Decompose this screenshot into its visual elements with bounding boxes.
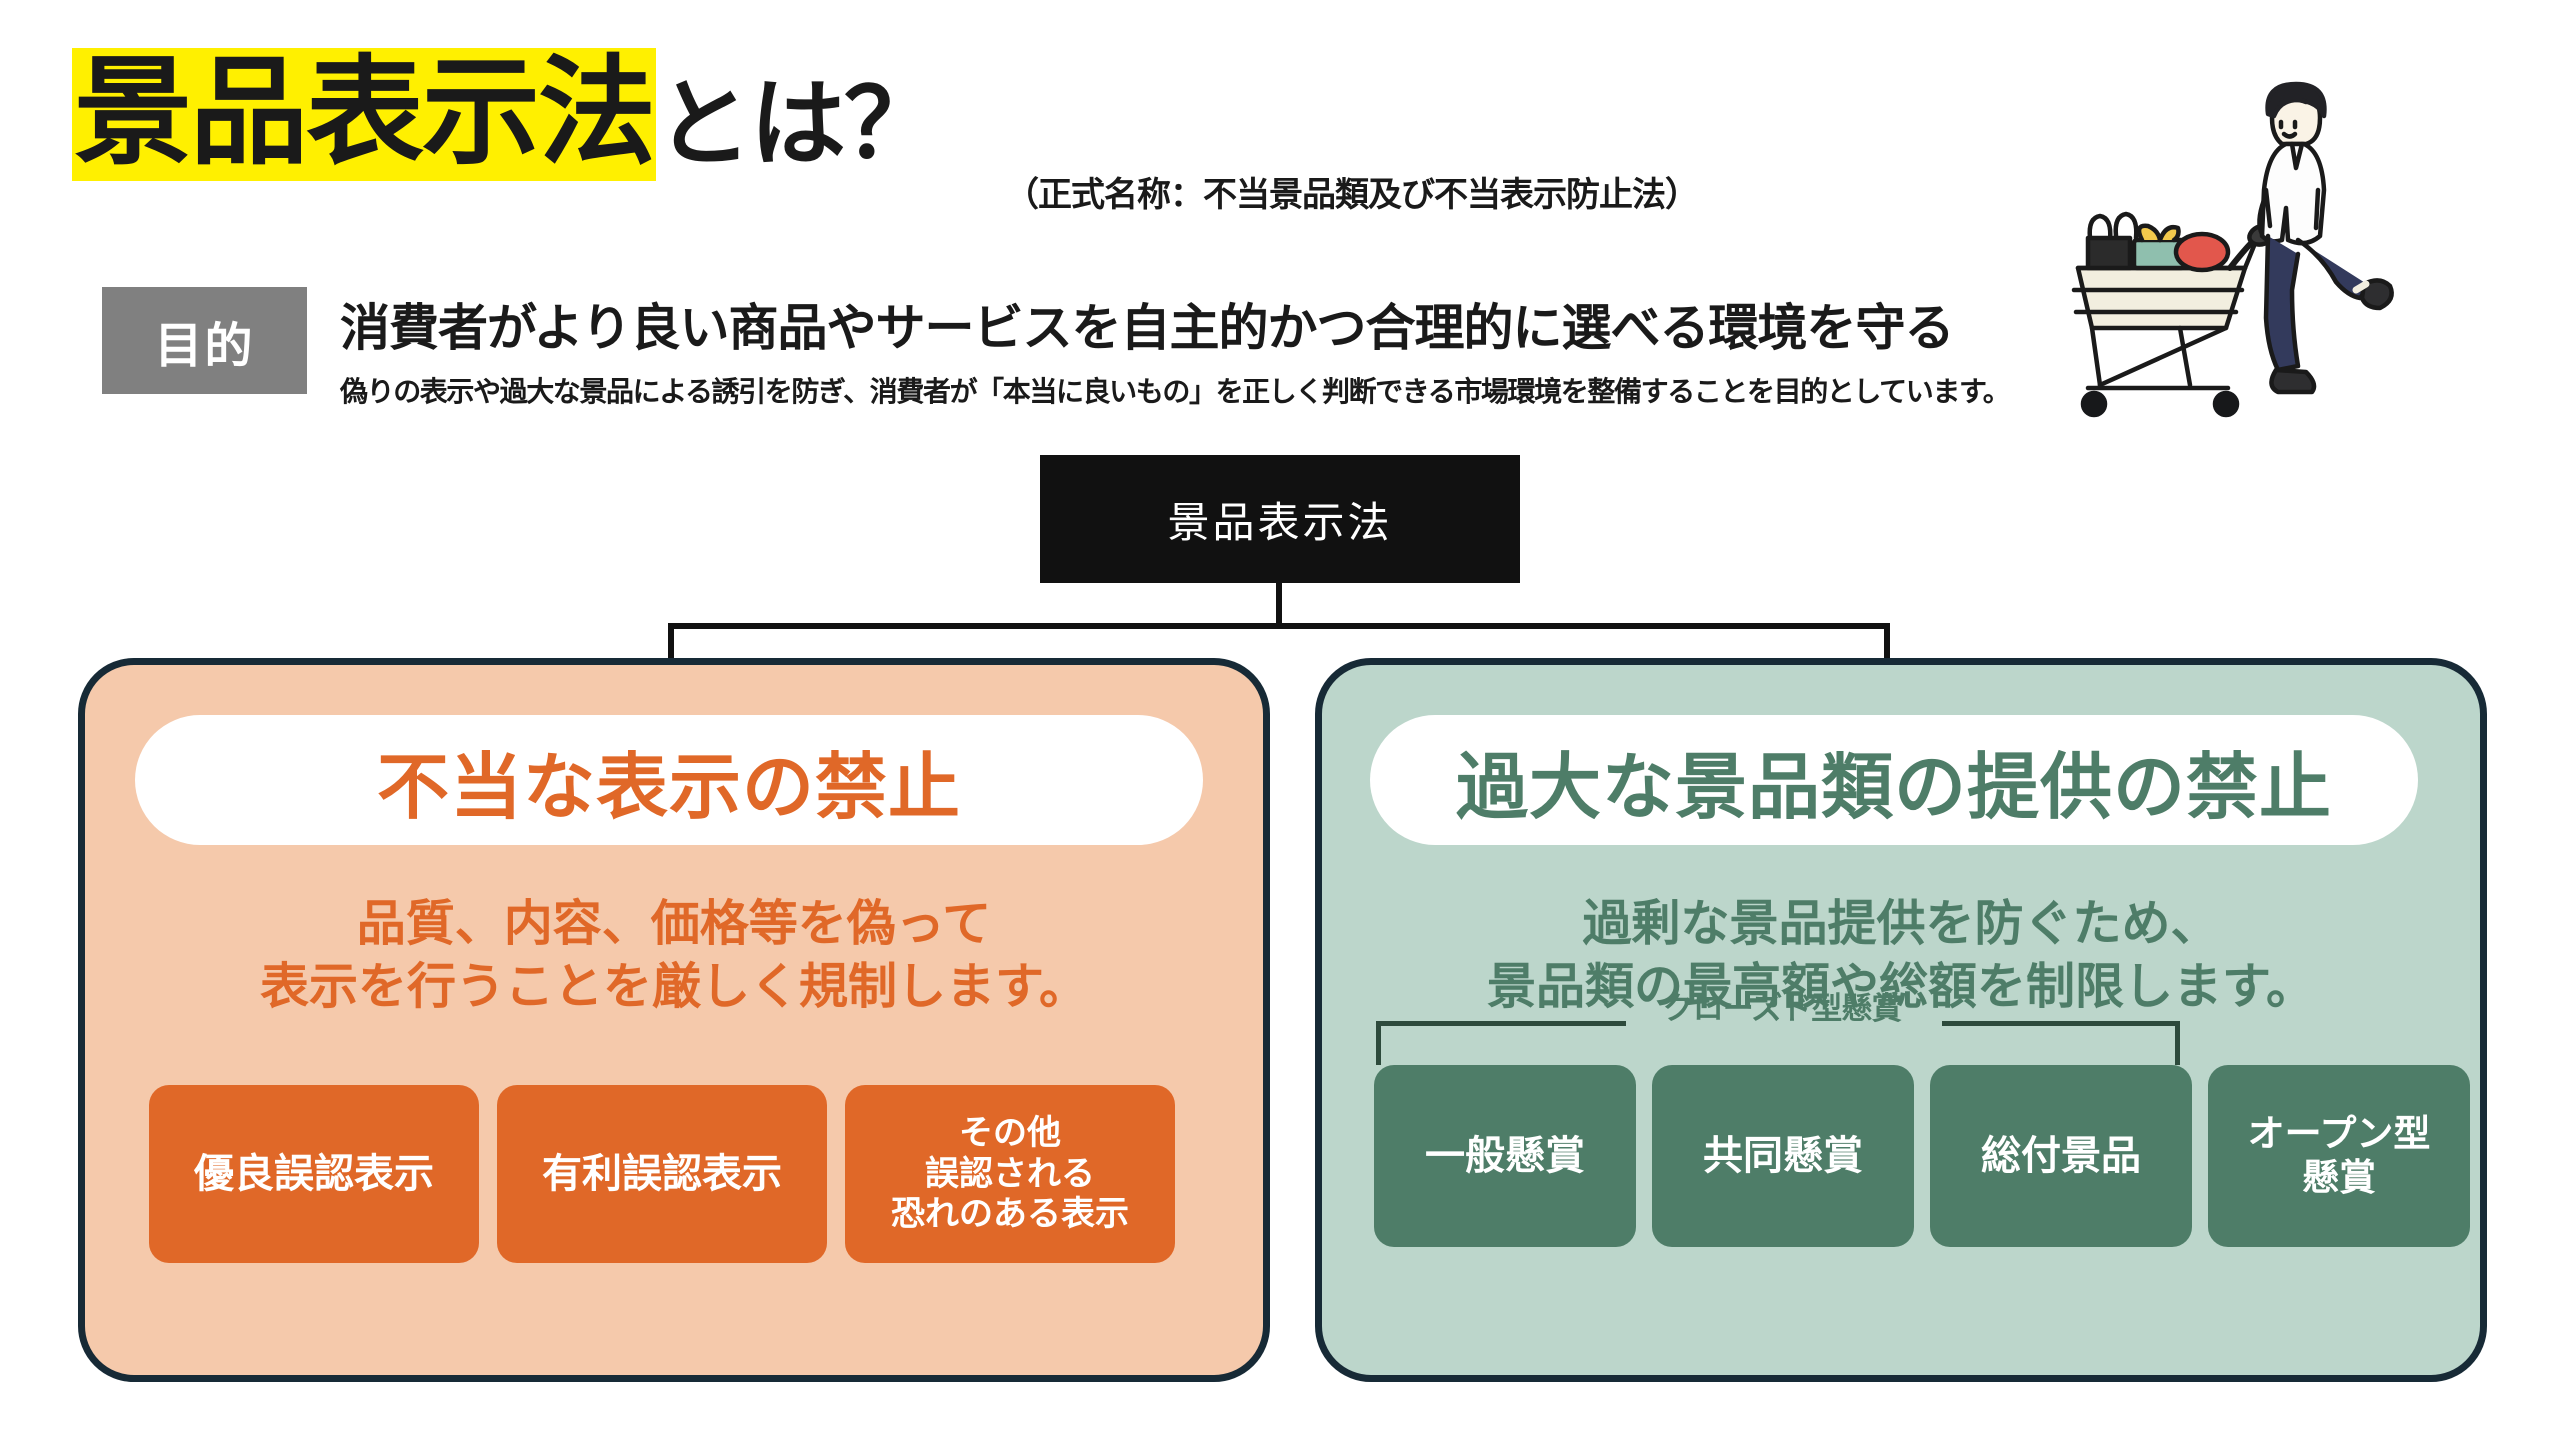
- subbox-yuryo-gonin-label: 優良誤認表示: [194, 1150, 434, 1198]
- subbox-yuryo-gonin[interactable]: 優良誤認表示: [149, 1085, 479, 1263]
- subbox-ippan-kensho-label: 一般懸賞: [1425, 1132, 1585, 1180]
- subbox-soutsuke-keihin-label: 総付景品: [1981, 1132, 2141, 1180]
- subbox-open-kensho-label: オープン型 懸賞: [2248, 1112, 2431, 1201]
- branch-heading-premium: 過大な景品類の提供の禁止: [1370, 715, 2418, 845]
- formal-name-text: （正式名称：不当景品類及び不当表示防止法）: [1005, 167, 1698, 216]
- purpose-badge-label: 目的: [154, 306, 254, 376]
- purpose-detail-text: 偽りの表示や過大な景品による誘引を防ぎ、消費者が「本当に良いもの」を正しく判断で…: [340, 370, 2009, 410]
- subbox-soutsuke-keihin[interactable]: 総付景品: [1930, 1065, 2192, 1247]
- branch-heading-display-label: 不当な表示の禁止: [377, 728, 961, 833]
- branch-heading-display: 不当な表示の禁止: [135, 715, 1203, 845]
- purpose-badge: 目的: [102, 287, 307, 394]
- title-highlight-text: 景品表示法: [72, 48, 656, 181]
- page-title: 景品表示法 とは？: [72, 48, 938, 181]
- branch-heading-premium-label: 過大な景品類の提供の禁止: [1456, 728, 2332, 833]
- subbox-sonota-gonin-label: その他 誤認される 恐れのある表示: [891, 1113, 1129, 1235]
- subbox-sonota-gonin[interactable]: その他 誤認される 恐れのある表示: [845, 1085, 1175, 1263]
- connector-stem: [1276, 583, 1282, 627]
- connector-horizontal-bar: [668, 623, 1890, 629]
- subbox-yuri-gonin-label: 有利誤認表示: [542, 1150, 782, 1198]
- subbox-yuri-gonin[interactable]: 有利誤認表示: [497, 1085, 827, 1263]
- branch-panel-display: 不当な表示の禁止 品質、内容、価格等を偽って 表示を行うことを厳しく規制します。…: [78, 658, 1270, 1382]
- bracket-segment-right: [1942, 1021, 2180, 1026]
- subbox-kyodo-kensho-label: 共同懸賞: [1703, 1132, 1863, 1180]
- subbox-row-premium: 一般懸賞 共同懸賞 総付景品 オープン型 懸賞: [1374, 1065, 2470, 1247]
- diagram-root-node: 景品表示法: [1040, 455, 1520, 583]
- subbox-kyodo-kensho[interactable]: 共同懸賞: [1652, 1065, 1914, 1247]
- bracket-tick-left: [1376, 1021, 1381, 1065]
- subbox-ippan-kensho[interactable]: 一般懸賞: [1374, 1065, 1636, 1247]
- header-area: 景品表示法 とは？ （正式名称：不当景品類及び不当表示防止法） 目的 消費者がよ…: [0, 0, 2560, 460]
- diagram-root-label: 景品表示法: [1167, 489, 1392, 550]
- subbox-open-kensho[interactable]: オープン型 懸賞: [2208, 1065, 2470, 1247]
- bracket-tick-right: [2175, 1021, 2180, 1065]
- subbox-row-display: 優良誤認表示 有利誤認表示 その他 誤認される 恐れのある表示: [149, 1085, 1175, 1263]
- closed-type-bracket-label: クローズド型懸賞: [1622, 983, 1942, 1028]
- closed-type-bracket: クローズド型懸賞: [1374, 983, 2184, 1067]
- branch-panel-premium: 過大な景品類の提供の禁止 過剰な景品提供を防ぐため、 景品類の最高額や総額を制限…: [1315, 658, 2487, 1382]
- branch-description-display: 品質、内容、価格等を偽って 表示を行うことを厳しく規制します。: [85, 893, 1263, 1018]
- bracket-segment-left: [1376, 1021, 1626, 1026]
- shopping-cart-illustration-icon: [2030, 40, 2460, 440]
- title-suffix-text: とは？: [656, 72, 938, 182]
- purpose-headline: 消費者がより良い商品やサービスを自主的かつ合理的に選べる環境を守る: [340, 288, 1954, 360]
